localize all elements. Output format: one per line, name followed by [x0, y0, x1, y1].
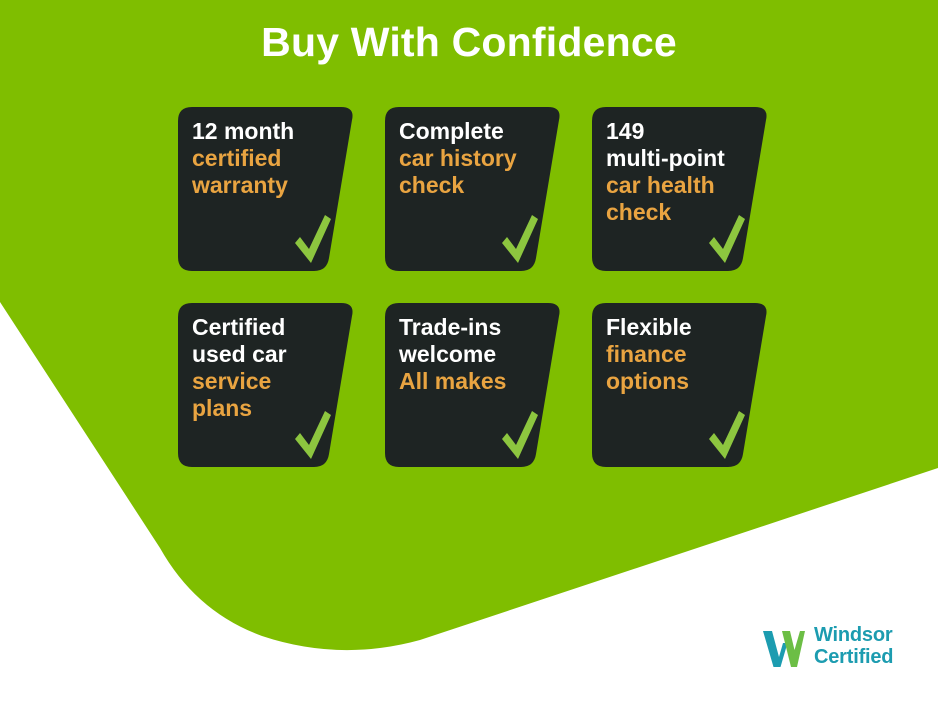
card-line-primary: welcome	[399, 341, 546, 368]
card-line-accent: warranty	[192, 172, 339, 199]
feature-card-car-history-check[interactable]: Complete car history check	[385, 107, 562, 271]
card-line-primary: Certified	[192, 314, 339, 341]
card-line-accent: car history	[399, 145, 546, 172]
card-line-accent: certified	[192, 145, 339, 172]
card-line-accent: plans	[192, 395, 339, 422]
feature-card-certified-warranty[interactable]: 12 month certified warranty	[178, 107, 355, 271]
feature-card-row-2: Certified used car service plans Trade-i…	[178, 303, 778, 467]
card-text-block: Certified used car service plans	[192, 314, 339, 422]
card-line-accent: finance	[606, 341, 753, 368]
brand-line-certified: Certified	[814, 647, 893, 669]
card-text-block: 149 multi-point car health check	[606, 118, 753, 226]
brand-logo[interactable]: Windsor Certified	[760, 624, 893, 670]
poster-canvas: Buy With Confidence 12 month certified w…	[0, 0, 938, 704]
card-line-primary: multi-point	[606, 145, 753, 172]
card-text-block: Complete car history check	[399, 118, 546, 199]
feature-card-grid: 12 month certified warranty Complete car…	[178, 107, 778, 499]
card-line-accent: car health	[606, 172, 753, 199]
card-line-accent: All makes	[399, 368, 546, 395]
card-line-accent: service	[192, 368, 339, 395]
card-line-accent: check	[606, 199, 753, 226]
card-line-primary: Complete	[399, 118, 546, 145]
feature-card-trade-ins-welcome[interactable]: Trade-ins welcome All makes	[385, 303, 562, 467]
card-text-block: Trade-ins welcome All makes	[399, 314, 546, 395]
brand-wordmark: Windsor Certified	[814, 625, 893, 668]
brand-line-windsor: Windsor	[814, 625, 893, 647]
card-line-primary: Trade-ins	[399, 314, 546, 341]
card-text-block: Flexible finance options	[606, 314, 753, 395]
feature-card-service-plans[interactable]: Certified used car service plans	[178, 303, 355, 467]
windsor-w-mark-icon	[760, 624, 806, 670]
card-line-primary: used car	[192, 341, 339, 368]
page-title: Buy With Confidence	[0, 19, 938, 66]
feature-card-row-1: 12 month certified warranty Complete car…	[178, 107, 778, 271]
card-line-primary: Flexible	[606, 314, 753, 341]
feature-card-flexible-finance[interactable]: Flexible finance options	[592, 303, 769, 467]
card-line-accent: check	[399, 172, 546, 199]
card-line-primary: 149	[606, 118, 753, 145]
card-line-primary: 12 month	[192, 118, 339, 145]
card-line-accent: options	[606, 368, 753, 395]
card-text-block: 12 month certified warranty	[192, 118, 339, 199]
feature-card-multi-point-health-check[interactable]: 149 multi-point car health check	[592, 107, 769, 271]
